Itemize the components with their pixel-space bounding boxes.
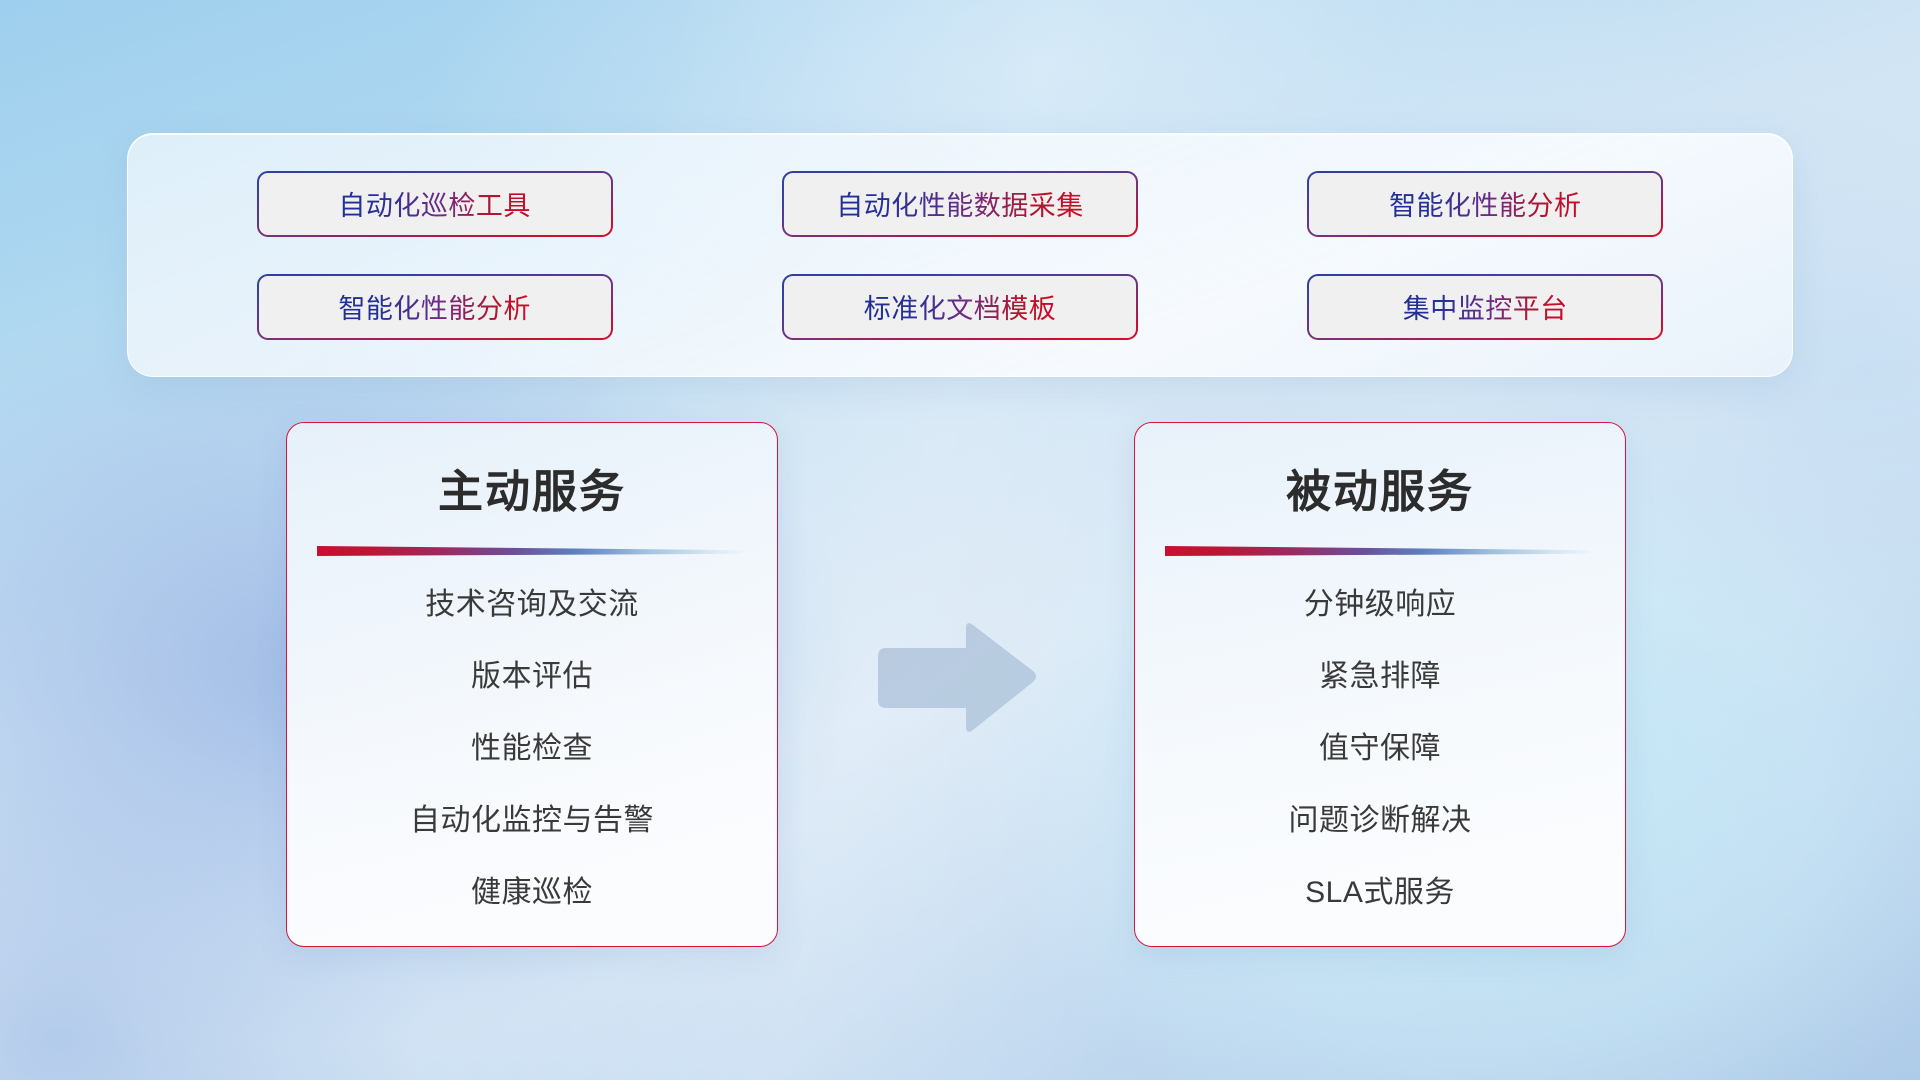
capability-pill-label: 集中监控平台 [1403,287,1568,326]
card-title: 被动服务 [1135,455,1625,520]
capability-pill-label: 自动化性能数据采集 [836,184,1084,223]
capability-pill[interactable]: 标准化文档模板 [782,274,1138,340]
list-item: 紧急排障 [1135,662,1625,692]
service-item-list: 分钟级响应 紧急排障 值守保障 问题诊断解决 SLA式服务 [1135,590,1625,908]
service-item-list: 技术咨询及交流 版本评估 性能检查 自动化监控与告警 健康巡检 [287,590,777,908]
capability-pill-label: 自动化巡检工具 [338,184,531,223]
capability-pill-label: 标准化文档模板 [864,287,1057,326]
arrow-right-icon [874,618,1039,738]
capability-pill[interactable]: 智能化性能分析 [1307,171,1663,237]
capability-tags-panel: 自动化巡检工具 自动化性能数据采集 智能化性能分析 智能化性能分析 标准化文档模… [127,133,1793,377]
service-card-reactive: 被动服务 分钟级响应 紧急排障 值守保障 问题诊断解决 SLA式服务 [1134,422,1626,947]
list-item: 健康巡检 [287,878,777,908]
card-title-divider [317,546,747,556]
list-item: 技术咨询及交流 [287,590,777,620]
card-title-divider [1165,546,1595,556]
capability-pill[interactable]: 自动化巡检工具 [257,171,613,237]
capability-pill-label: 智能化性能分析 [1389,184,1582,223]
divider-gradient-bar [317,546,747,556]
list-item: 版本评估 [287,662,777,692]
list-item: 分钟级响应 [1135,590,1625,620]
capability-pill[interactable]: 自动化性能数据采集 [782,171,1138,237]
divider-gradient-bar [1165,546,1595,556]
list-item: 自动化监控与告警 [287,806,777,836]
card-title: 主动服务 [287,455,777,520]
list-item: SLA式服务 [1135,878,1625,908]
capability-pill[interactable]: 集中监控平台 [1307,274,1663,340]
capability-pill-label: 智能化性能分析 [338,287,531,326]
list-item: 值守保障 [1135,734,1625,764]
list-item: 性能检查 [287,734,777,764]
service-card-proactive: 主动服务 技术咨询及交流 版本评估 性能检查 自动化监控与告警 健康巡检 [286,422,778,947]
slide-canvas: 自动化巡检工具 自动化性能数据采集 智能化性能分析 智能化性能分析 标准化文档模… [0,0,1920,1080]
capability-pill[interactable]: 智能化性能分析 [257,274,613,340]
list-item: 问题诊断解决 [1135,806,1625,836]
